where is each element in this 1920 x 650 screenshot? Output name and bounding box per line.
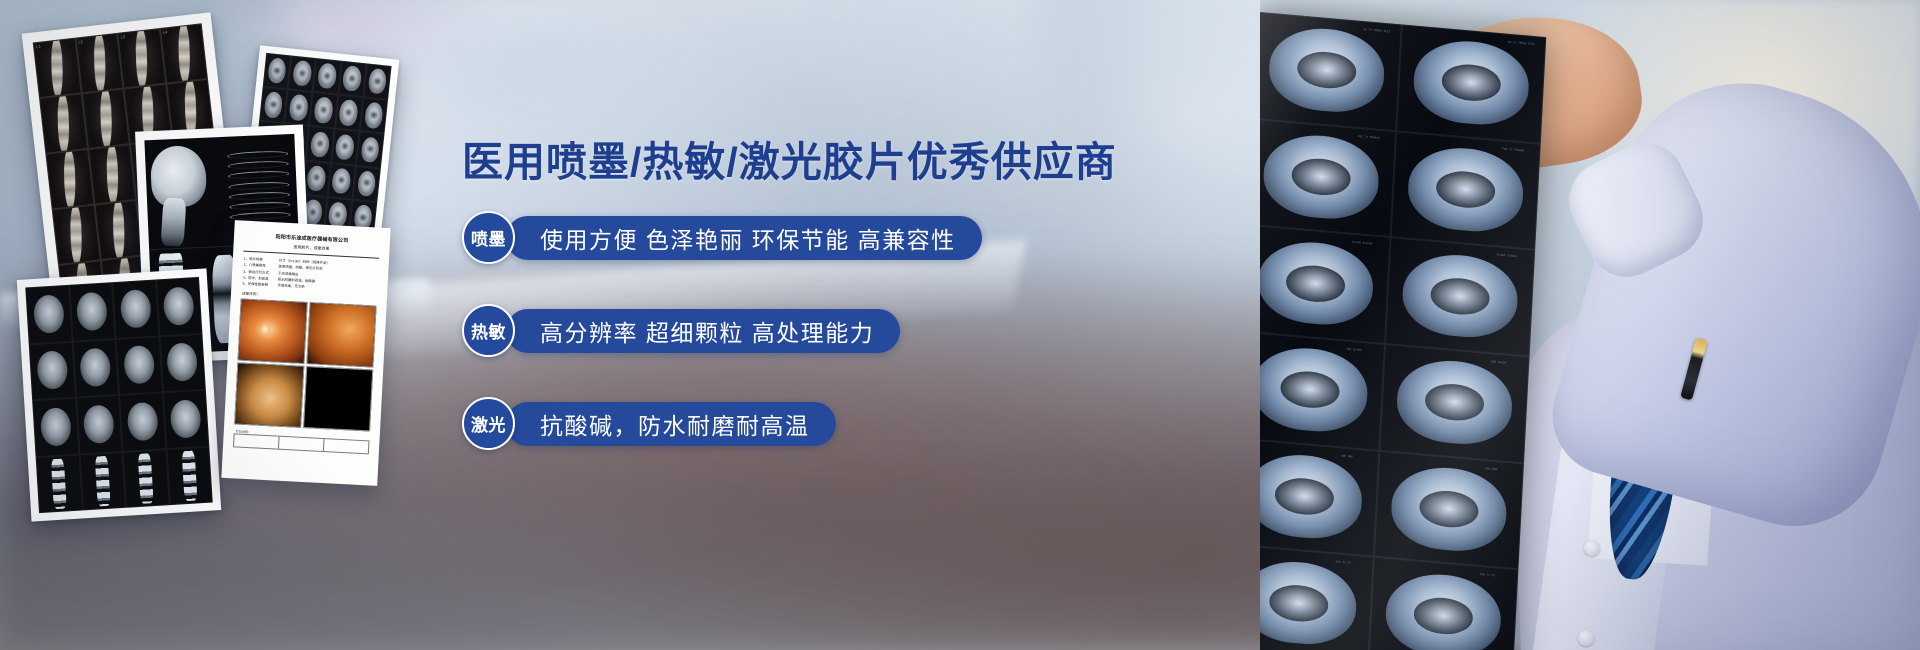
feature-tag-thermal[interactable]: 热敏 xyxy=(462,304,515,357)
medical-report-sheet: 阳阳市乐途成医疗器械有限公司 医用胶片，成像效果 1、胶片规格 尺寸（8×10i… xyxy=(221,220,390,486)
report-image-grid xyxy=(232,298,378,431)
banner-title: 医用喷墨/热敏/激光胶片优秀供应商 xyxy=(462,140,1102,185)
coat-button xyxy=(1584,540,1600,556)
feature-tag-inkjet[interactable]: 喷墨 xyxy=(462,211,515,264)
brain-mri-film xyxy=(17,268,221,521)
film-collage: L1 L2 L3 L4 xyxy=(0,0,430,520)
coat-button xyxy=(1578,630,1594,646)
feature-row-thermal: 热敏 高分辨率 超细颗粒 高处理能力 xyxy=(462,304,1102,357)
doctor-photo: SE T1 TR500 TE12 SE T1 TR500 TE12 FSE T2… xyxy=(1260,0,1920,650)
banner-content: 医用喷墨/热敏/激光胶片优秀供应商 喷墨 使用方便 色泽艳丽 环保节能 高兼容性… xyxy=(462,140,1102,450)
retina-photo-right xyxy=(238,298,308,363)
feature-text-laser[interactable]: 抗酸碱，防水耐磨耐高温 xyxy=(506,402,836,446)
report-spec-list: 1、胶片规格 尺寸（8×10in）四种（规格齐全） 2、介质兼容性 医用喷墨、热… xyxy=(239,255,381,295)
retina-photo-left xyxy=(306,302,376,367)
feature-tag-laser[interactable]: 激光 xyxy=(462,397,515,450)
report-spec-value: 环保无毒、无污染 xyxy=(277,283,304,291)
feature-row-laser: 激光 抗酸碱，防水耐磨耐高温 xyxy=(462,397,1102,450)
feature-list: 喷墨 使用方便 色泽艳丽 环保节能 高兼容性 热敏 高分辨率 超细颗粒 高处理能… xyxy=(462,211,1102,450)
ultrasound-photo xyxy=(234,362,304,427)
medical-film-banner: L1 L2 L3 L4 xyxy=(0,0,1920,650)
feature-text-thermal[interactable]: 高分辨率 超细颗粒 高处理能力 xyxy=(506,309,900,353)
feature-row-inkjet: 喷墨 使用方便 色泽艳丽 环保节能 高兼容性 xyxy=(462,211,1102,264)
ultrasound-3d-photo xyxy=(303,366,373,431)
feature-text-inkjet[interactable]: 使用方便 色泽艳丽 环保节能 高兼容性 xyxy=(506,216,982,260)
held-brain-mri-film: SE T1 TR500 TE12 SE T1 TR500 TE12 FSE T2… xyxy=(1260,12,1546,650)
report-spec-label: 5、环保性能参数 xyxy=(242,281,274,289)
